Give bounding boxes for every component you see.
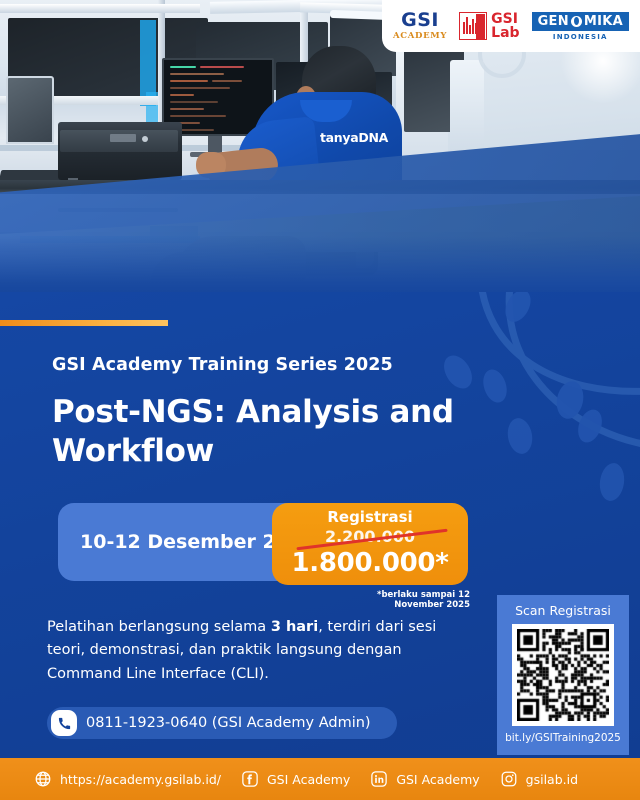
description-text: Pelatihan berlangsung selama 3 hari, ter… — [47, 616, 467, 686]
logo-genomika-indonesia: GEN MIKA INDONESIA — [532, 12, 629, 41]
instrument-label — [110, 134, 136, 142]
logo-bar: GSI ACADEMY GSI Lab GEN MIKA — [382, 0, 640, 52]
genomika-dna-dot-icon — [571, 16, 582, 27]
footer-label-website: https://academy.gsilab.id/ — [60, 772, 221, 787]
footer-item-instagram[interactable]: gsilab.id — [500, 770, 578, 788]
overhead-rail — [0, 4, 200, 13]
logo-genomika-part1: GEN — [538, 14, 569, 29]
instagram-icon — [500, 770, 518, 788]
footer-label-linkedin: GSI Academy — [396, 772, 479, 787]
qr-panel: Scan Registrasi bit.ly/GSITraining2025 — [497, 595, 629, 755]
footer-label-facebook: GSI Academy — [267, 772, 350, 787]
qr-title: Scan Registrasi — [497, 603, 629, 618]
logo-gsi-lab: GSI Lab — [459, 12, 519, 41]
page-title: Post-NGS: Analysis and Workflow — [52, 393, 472, 471]
date-price-row: 10-12 Desember 2025 Registrasi 2.200.000… — [58, 503, 468, 585]
photo-fade — [0, 236, 640, 300]
laptop — [6, 76, 54, 144]
linkedin-icon — [370, 770, 388, 788]
logo-gsi-academy-sub: ACADEMY — [393, 32, 447, 41]
footer-bar: https://academy.gsilab.id/ GSI Academy G… — [0, 758, 640, 800]
facebook-icon — [241, 770, 259, 788]
contact-phone-label: 0811-1923-0640 (GSI Academy Admin) — [86, 715, 371, 731]
old-price-wrap: 2.200.000 — [272, 527, 468, 549]
globe-icon — [34, 770, 52, 788]
footer-label-instagram: gsilab.id — [526, 772, 578, 787]
shirt-logo-tanyadna: tanyaDNA — [320, 130, 386, 144]
registration-label: Registrasi — [272, 509, 468, 526]
promo-poster: tanyaDNA GSI ACADEMY — [0, 0, 640, 800]
qr-code-image[interactable] — [517, 629, 609, 721]
logo-genomika-sub: INDONESIA — [532, 33, 629, 41]
logo-gsi-lab-line2: Lab — [491, 26, 519, 40]
whatsapp-icon — [51, 710, 77, 736]
qr-short-link[interactable]: bit.ly/GSITraining2025 — [497, 732, 629, 744]
description-part1: Pelatihan berlangsung selama — [47, 619, 271, 635]
registration-price-box: Registrasi 2.200.000 1.800.000* — [272, 503, 468, 585]
price-validity-note: *berlaku sampai 12 November 2025 — [330, 590, 470, 610]
logo-gsi-academy-name: GSI — [393, 11, 447, 30]
gsi-lab-electropherogram-icon — [459, 12, 487, 40]
logo-genomika-part2: MIKA — [584, 14, 623, 29]
footer-item-website[interactable]: https://academy.gsilab.id/ — [34, 770, 221, 788]
new-price: 1.800.000* — [272, 550, 468, 576]
instrument-led — [142, 136, 148, 142]
orange-accent-bar — [0, 320, 168, 326]
logo-gsi-academy: GSI ACADEMY — [393, 11, 447, 41]
qr-code-box[interactable] — [512, 624, 614, 726]
kicker-text: GSI Academy Training Series 2025 — [52, 355, 393, 375]
logo-gsi-lab-line1: GSI — [491, 12, 519, 26]
description-highlight: 3 hari — [271, 619, 318, 635]
footer-item-linkedin[interactable]: GSI Academy — [370, 770, 479, 788]
footer-item-facebook[interactable]: GSI Academy — [241, 770, 350, 788]
contact-pill[interactable]: 0811-1923-0640 (GSI Academy Admin) — [47, 707, 397, 739]
